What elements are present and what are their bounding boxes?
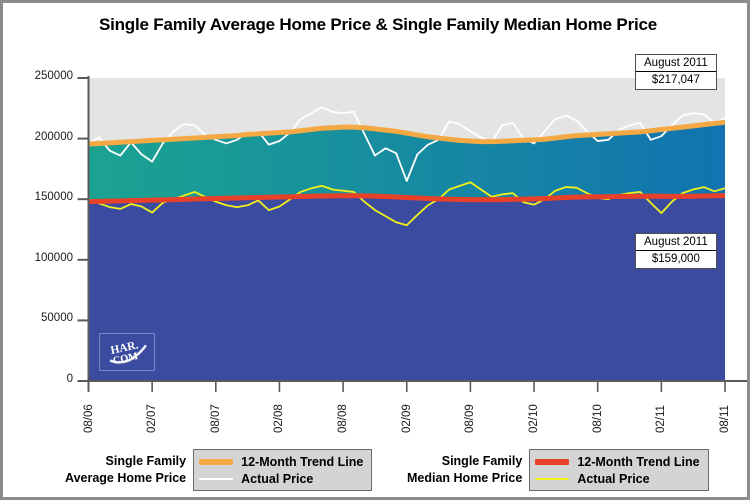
- median-callout-date: August 2011: [636, 234, 716, 251]
- x-tick-label: 08/11: [719, 405, 731, 433]
- y-tick-label: 150000: [11, 191, 73, 203]
- x-tick-label: 02/07: [146, 404, 158, 433]
- legend-average-caption: Single Family Average Home Price: [65, 453, 193, 487]
- average-callout-value: $217,047: [636, 72, 716, 89]
- legend-average: Single Family Average Home Price 12-Mont…: [65, 449, 372, 491]
- legend-label-avg-trend: 12-Month Trend Line: [241, 455, 363, 469]
- legend-median-caption-line2: Median Home Price: [407, 470, 522, 487]
- legend-swatch-med-actual: [535, 478, 569, 480]
- x-tick-label: 08/09: [464, 404, 476, 433]
- legend-median-caption-line1: Single Family: [407, 453, 522, 470]
- median-callout-value: $159,000: [636, 251, 716, 268]
- legend-item: Actual Price: [535, 470, 699, 487]
- x-tick-label: 02/10: [528, 404, 540, 433]
- average-callout: August 2011 $217,047: [635, 54, 717, 90]
- y-tick-label: 50000: [11, 312, 73, 324]
- y-tick-label: 250000: [11, 70, 73, 82]
- x-tick-label: 02/11: [655, 405, 667, 433]
- har-com-logo-icon: HAR. COM: [100, 334, 154, 370]
- average-callout-date: August 2011: [636, 55, 716, 72]
- legend-average-caption-line1: Single Family: [65, 453, 186, 470]
- legend-median: Single Family Median Home Price 12-Month…: [407, 449, 709, 491]
- x-tick-label: 08/07: [210, 404, 222, 433]
- legend-average-caption-line2: Average Home Price: [65, 470, 186, 487]
- legend-average-box: 12-Month Trend Line Actual Price: [193, 449, 372, 491]
- x-tick-label: 08/10: [592, 404, 604, 433]
- legend-item: Actual Price: [199, 470, 363, 487]
- median-base-area: [89, 196, 726, 381]
- y-tick-label: 100000: [11, 252, 73, 264]
- legend-median-box: 12-Month Trend Line Actual Price: [529, 449, 708, 491]
- legend-label-med-actual: Actual Price: [577, 472, 649, 486]
- legend-label-avg-actual: Actual Price: [241, 472, 313, 486]
- x-tick-label: 08/08: [337, 404, 349, 433]
- legend-swatch-med-trend: [535, 459, 569, 465]
- legend-item: 12-Month Trend Line: [535, 453, 699, 470]
- y-tick-label: 200000: [11, 131, 73, 143]
- median-callout: August 2011 $159,000: [635, 233, 717, 269]
- x-tick-label: 02/08: [273, 404, 285, 433]
- chart-page: Single Family Average Home Price & Singl…: [0, 0, 750, 500]
- y-tick-label: 0: [11, 373, 73, 385]
- legend-item: 12-Month Trend Line: [199, 453, 363, 470]
- har-com-watermark: HAR. COM: [99, 333, 155, 371]
- legend-label-med-trend: 12-Month Trend Line: [577, 455, 699, 469]
- x-tick-label: 02/09: [401, 404, 413, 433]
- legend-swatch-avg-actual: [199, 478, 233, 480]
- legend-median-caption: Single Family Median Home Price: [407, 453, 529, 487]
- legend-swatch-avg-trend: [199, 459, 233, 465]
- x-tick-label: 08/06: [83, 404, 95, 433]
